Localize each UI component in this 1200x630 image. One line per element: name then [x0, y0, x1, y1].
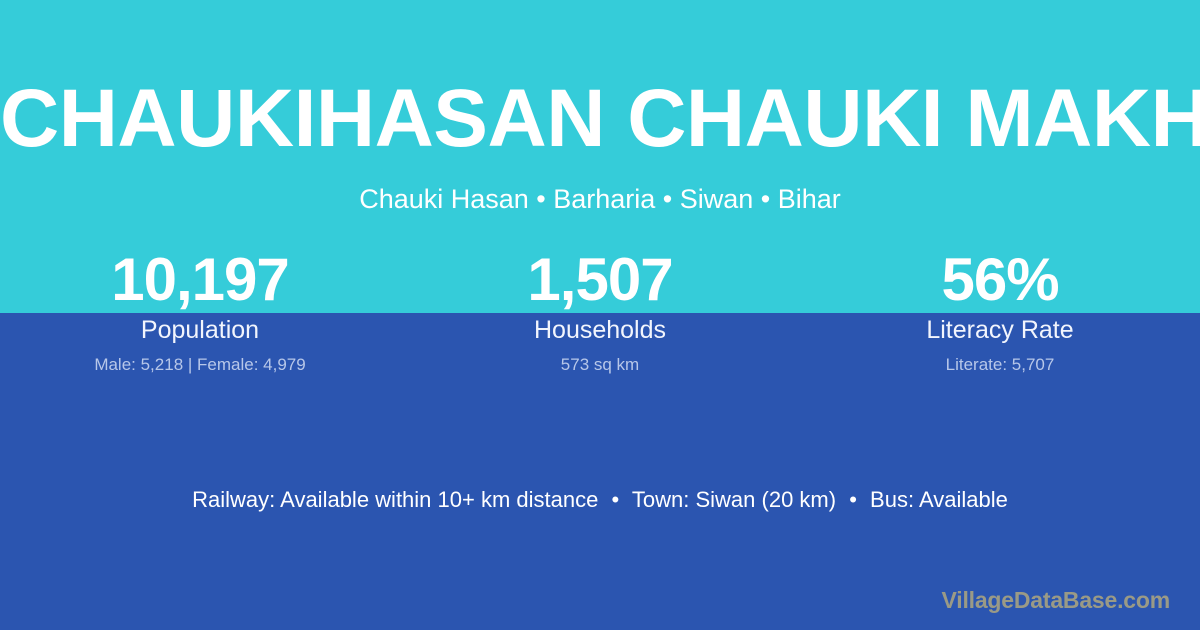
amenity-separator: •	[604, 487, 626, 512]
stat-literacy-rate: 56% Literacy Rate Literate: 5,707	[800, 246, 1200, 376]
amenities-line: Railway: Available within 10+ km distanc…	[0, 486, 1200, 514]
stats-row: 10,197 Population Male: 5,218 | Female: …	[0, 246, 1200, 376]
stat-households: 1,507 Households 573 sq km	[400, 246, 800, 376]
amenity-bus: Bus: Available	[870, 487, 1008, 512]
stat-label: Population	[0, 315, 400, 345]
stat-sublabel: 573 sq km	[400, 354, 800, 376]
stat-value: 56%	[800, 246, 1200, 313]
breadcrumb-text: Chauki Hasan • Barharia • Siwan • Bihar	[359, 184, 841, 214]
stat-population: 10,197 Population Male: 5,218 | Female: …	[0, 246, 400, 376]
amenity-railway: Railway: Available within 10+ km distanc…	[192, 487, 598, 512]
breadcrumb: Chauki Hasan • Barharia • Siwan • Bihar	[0, 183, 1200, 215]
site-brand: VillageDataBase.com	[942, 586, 1170, 614]
stat-value: 1,507	[400, 246, 800, 313]
amenity-separator: •	[842, 487, 864, 512]
stat-sublabel: Literate: 5,707	[800, 354, 1200, 376]
page-title-text: CHAUKIHASAN CHAUKI MAKHDUM	[0, 78, 1200, 160]
amenity-town: Town: Siwan (20 km)	[632, 487, 836, 512]
stat-value: 10,197	[0, 246, 400, 313]
page-title: CHAUKIHASAN CHAUKI MAKHDUM	[0, 78, 1200, 160]
village-summary-card: CHAUKIHASAN CHAUKI MAKHDUM Chauki Hasan …	[0, 0, 1200, 630]
stat-sublabel: Male: 5,218 | Female: 4,979	[0, 354, 400, 376]
stat-label: Households	[400, 315, 800, 345]
stat-label: Literacy Rate	[800, 315, 1200, 345]
